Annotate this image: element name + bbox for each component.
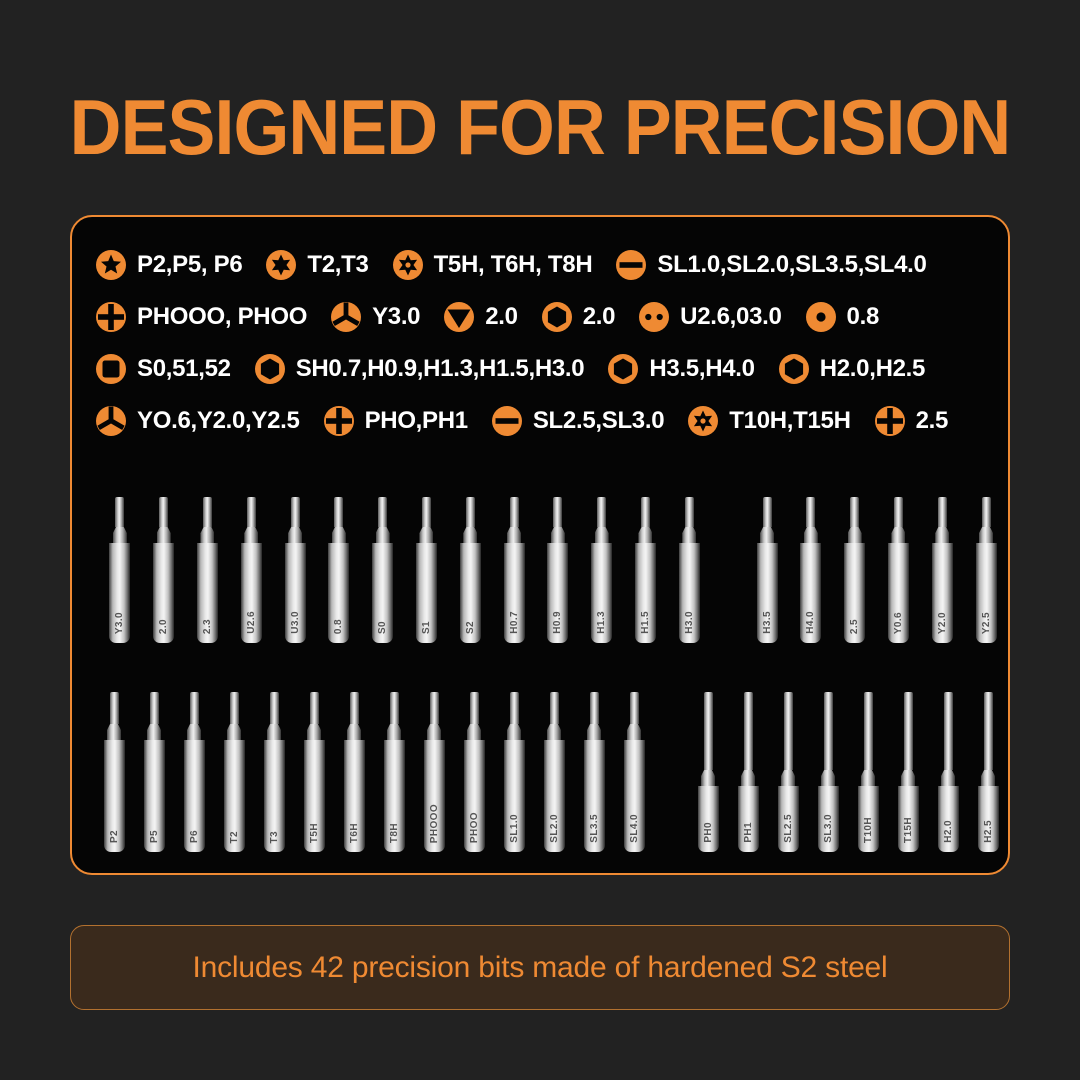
bit-item[interactable]: SL2.0 bbox=[534, 692, 574, 852]
bit-code-label: T5H bbox=[309, 823, 320, 843]
bit-tip bbox=[230, 692, 239, 724]
bit-neck bbox=[107, 724, 121, 740]
hex-outline-icon bbox=[777, 352, 811, 386]
bit-item[interactable]: H3.5 bbox=[745, 497, 789, 643]
bit-shaft: S0 bbox=[372, 543, 393, 643]
legend-item: SH0.7,H0.9,H1.3,H1.5,H3.0 bbox=[253, 352, 585, 386]
bit-shaft: P5 bbox=[144, 740, 165, 852]
bit-code-label: H2.5 bbox=[983, 820, 994, 843]
bit-code-label: H3.5 bbox=[762, 611, 773, 634]
legend-item: 2.0 bbox=[540, 300, 615, 334]
tri-wing-y-icon bbox=[94, 404, 128, 438]
bit-tip bbox=[763, 497, 772, 527]
bit-item[interactable]: U3.0 bbox=[273, 497, 317, 643]
tri-wing-y-icon bbox=[329, 300, 363, 334]
bit-neck bbox=[595, 527, 609, 543]
bit-neck bbox=[804, 527, 818, 543]
bit-tip bbox=[938, 497, 947, 527]
bit-code-label: S0 bbox=[377, 621, 388, 634]
torx-security-star-icon bbox=[686, 404, 720, 438]
bit-item[interactable]: SL2.5 bbox=[768, 692, 808, 852]
bit-item[interactable]: Y3.0 bbox=[98, 497, 142, 643]
bit-item[interactable]: P6 bbox=[174, 692, 214, 852]
bit-code-label: U2.6 bbox=[246, 611, 257, 634]
bit-shaft: SL3.0 bbox=[818, 786, 839, 852]
bit-neck bbox=[861, 770, 875, 786]
bit-neck bbox=[157, 527, 171, 543]
bit-neck bbox=[244, 527, 258, 543]
bit-neck bbox=[347, 724, 361, 740]
phillips-cross-icon bbox=[94, 300, 128, 334]
bit-code-label: T2 bbox=[229, 831, 240, 843]
legend-item: 2.0 bbox=[442, 300, 517, 334]
bit-shaft: H4.0 bbox=[800, 543, 821, 643]
legend-item-label: 2.5 bbox=[916, 407, 948, 435]
bit-neck bbox=[760, 527, 774, 543]
bit-code-label: P5 bbox=[149, 830, 160, 843]
legend-item-label: S0,51,52 bbox=[137, 355, 231, 383]
legend-item-label: 2.0 bbox=[583, 303, 615, 331]
bit-item[interactable]: U2.6 bbox=[229, 497, 273, 643]
square-socket-icon bbox=[94, 352, 128, 386]
bit-tip bbox=[850, 497, 859, 527]
bit-shaft: U3.0 bbox=[285, 543, 306, 643]
legend-item: U2.6,03.0 bbox=[637, 300, 781, 334]
bit-tray-top: Y3.02.02.3U2.6U3.00.8S0S1S2H0.7H0.9H1.3H… bbox=[72, 493, 1008, 643]
flathead-slot-icon bbox=[614, 248, 648, 282]
legend-item-label: U2.6,03.0 bbox=[680, 303, 781, 331]
bit-item[interactable]: H0.9 bbox=[536, 497, 580, 643]
bit-neck bbox=[113, 527, 127, 543]
bit-tip bbox=[510, 692, 519, 724]
bit-neck bbox=[147, 724, 161, 740]
bit-shaft: SL2.5 bbox=[778, 786, 799, 852]
legend-item: P2,P5, P6 bbox=[94, 248, 242, 282]
bit-tray-bottom: P2P5P6T2T3T5HT6HT8HPHOOOPHOOSL1.0SL2.0SL… bbox=[72, 687, 1008, 852]
bit-code-label: H2.0 bbox=[943, 820, 954, 843]
bit-tip bbox=[390, 692, 399, 724]
bit-shaft: Y2.5 bbox=[976, 543, 997, 643]
bit-item[interactable]: PHOOO bbox=[414, 692, 454, 852]
bit-neck bbox=[419, 527, 433, 543]
legend-item-label: H2.0,H2.5 bbox=[820, 355, 925, 383]
legend-item-label: T2,T3 bbox=[307, 251, 368, 279]
bit-code-label: PH1 bbox=[743, 822, 754, 843]
bit-shaft: T5H bbox=[304, 740, 325, 852]
bit-code-label: H3.0 bbox=[684, 611, 695, 634]
bit-neck bbox=[979, 527, 993, 543]
legend-item: S0,51,52 bbox=[94, 352, 231, 386]
bit-item[interactable]: SL3.0 bbox=[808, 692, 848, 852]
bit-shaft: Y2.0 bbox=[932, 543, 953, 643]
hex-outline-icon bbox=[253, 352, 287, 386]
bit-shaft: S1 bbox=[416, 543, 437, 643]
bit-shaft: T10H bbox=[858, 786, 879, 852]
bit-code-label: 2.0 bbox=[158, 619, 169, 634]
bit-shaft: T6H bbox=[344, 740, 365, 852]
bit-code-label: H0.9 bbox=[552, 611, 563, 634]
bit-item[interactable]: S2 bbox=[448, 497, 492, 643]
bit-neck bbox=[463, 527, 477, 543]
legend-item-label: 2.0 bbox=[485, 303, 517, 331]
bit-item[interactable]: 2.3 bbox=[186, 497, 230, 643]
legend-item: PHOOO, PHOO bbox=[94, 300, 307, 334]
bit-neck bbox=[891, 527, 905, 543]
bit-shaft: H0.9 bbox=[547, 543, 568, 643]
legend: P2,P5, P6T2,T3T5H, T6H, T8HSL1.0,SL2.0,S… bbox=[72, 217, 1008, 447]
bit-tip bbox=[864, 692, 873, 770]
hex-outline-icon bbox=[606, 352, 640, 386]
bit-code-label: 2.5 bbox=[849, 619, 860, 634]
bit-neck bbox=[507, 724, 521, 740]
legend-item: T5H, T6H, T8H bbox=[391, 248, 593, 282]
bit-item[interactable]: PH0 bbox=[688, 692, 728, 852]
bit-shaft: P2 bbox=[104, 740, 125, 852]
bit-code-label: SL3.0 bbox=[823, 814, 834, 843]
bit-tip bbox=[190, 692, 199, 724]
bit-item[interactable]: SL1.0 bbox=[494, 692, 534, 852]
bit-shaft: H3.0 bbox=[679, 543, 700, 643]
bit-code-label: S2 bbox=[465, 621, 476, 634]
bit-neck bbox=[587, 724, 601, 740]
bit-code-label: SL3.5 bbox=[589, 814, 600, 843]
bit-neck bbox=[200, 527, 214, 543]
two-dot-spanner-icon bbox=[637, 300, 671, 334]
bit-shaft: H2.5 bbox=[978, 786, 999, 852]
hex-outline-icon bbox=[540, 300, 574, 334]
bit-code-label: S1 bbox=[421, 621, 432, 634]
bit-neck bbox=[638, 527, 652, 543]
legend-item: T2,T3 bbox=[264, 248, 368, 282]
single-dot-icon bbox=[804, 300, 838, 334]
bit-neck bbox=[551, 527, 565, 543]
bit-item[interactable]: P2 bbox=[94, 692, 134, 852]
bit-item[interactable]: P5 bbox=[134, 692, 174, 852]
bit-tip bbox=[894, 497, 903, 527]
bit-neck bbox=[682, 527, 696, 543]
legend-item: H3.5,H4.0 bbox=[606, 352, 754, 386]
legend-item-label: 0.8 bbox=[847, 303, 879, 331]
bit-item[interactable]: S0 bbox=[361, 497, 405, 643]
bit-code-label: PH0 bbox=[703, 822, 714, 843]
bit-tip bbox=[334, 497, 343, 527]
bit-neck bbox=[227, 724, 241, 740]
bit-tip bbox=[203, 497, 212, 527]
bit-shaft: PHOOO bbox=[424, 740, 445, 852]
bit-tip bbox=[685, 497, 694, 527]
bit-item[interactable]: 0.8 bbox=[317, 497, 361, 643]
bit-shaft: PHOO bbox=[464, 740, 485, 852]
bit-shaft: PH0 bbox=[698, 786, 719, 852]
bit-shaft: 2.5 bbox=[844, 543, 865, 643]
bit-shaft: T2 bbox=[224, 740, 245, 852]
bit-tip bbox=[944, 692, 953, 770]
bit-code-label: T6H bbox=[349, 823, 360, 843]
bit-shaft: T15H bbox=[898, 786, 919, 852]
bit-tip bbox=[470, 692, 479, 724]
bit-neck bbox=[307, 724, 321, 740]
bit-tip bbox=[378, 497, 387, 527]
bit-neck bbox=[547, 724, 561, 740]
bit-tip bbox=[641, 497, 650, 527]
bit-neck bbox=[332, 527, 346, 543]
bit-code-label: T8H bbox=[389, 823, 400, 843]
legend-item-label: Y3.0 bbox=[372, 303, 420, 331]
bit-tip bbox=[597, 497, 606, 527]
bit-code-label: SL1.0 bbox=[509, 814, 520, 843]
bit-item[interactable]: T8H bbox=[374, 692, 414, 852]
bit-item[interactable]: T6H bbox=[334, 692, 374, 852]
bit-neck bbox=[701, 770, 715, 786]
legend-row: PHOOO, PHOOY3.02.02.0U2.6,03.00.8 bbox=[94, 291, 986, 343]
footer-banner: Includes 42 precision bits made of harde… bbox=[70, 925, 1010, 1010]
bit-shaft: SL4.0 bbox=[624, 740, 645, 852]
bit-shaft: H1.3 bbox=[591, 543, 612, 643]
bit-code-label: U3.0 bbox=[290, 611, 301, 634]
bit-item[interactable]: Y0.6 bbox=[877, 497, 921, 643]
bit-tip bbox=[704, 692, 713, 770]
bit-item[interactable]: SL4.0 bbox=[614, 692, 654, 852]
legend-row: P2,P5, P6T2,T3T5H, T6H, T8HSL1.0,SL2.0,S… bbox=[94, 239, 986, 291]
bit-code-label: T10H bbox=[863, 817, 874, 843]
bit-code-label: H1.5 bbox=[640, 611, 651, 634]
legend-item-label: H3.5,H4.0 bbox=[649, 355, 754, 383]
bit-neck bbox=[935, 527, 949, 543]
bit-code-label: H0.7 bbox=[509, 611, 520, 634]
bit-code-label: Y3.0 bbox=[114, 612, 125, 634]
bit-tip bbox=[247, 497, 256, 527]
bit-shaft: H1.5 bbox=[635, 543, 656, 643]
bit-code-label: 2.3 bbox=[202, 619, 213, 634]
legend-item-label: PHOOO, PHOO bbox=[137, 303, 307, 331]
torx-security-star-icon bbox=[391, 248, 425, 282]
bit-item[interactable]: PH1 bbox=[728, 692, 768, 852]
legend-item-label: P2,P5, P6 bbox=[137, 251, 242, 279]
bit-neck bbox=[387, 724, 401, 740]
bits-panel: P2,P5, P6T2,T3T5H, T6H, T8HSL1.0,SL2.0,S… bbox=[70, 215, 1010, 875]
bit-item[interactable]: 2.0 bbox=[142, 497, 186, 643]
bit-tip bbox=[422, 497, 431, 527]
legend-row: YO.6,Y2.0,Y2.5PHO,PH1SL2.5,SL3.0T10H,T15… bbox=[94, 395, 986, 447]
bit-neck bbox=[467, 724, 481, 740]
legend-item-label: SL1.0,SL2.0,SL3.5,SL4.0 bbox=[657, 251, 926, 279]
legend-item: 0.8 bbox=[804, 300, 879, 334]
bit-neck bbox=[288, 527, 302, 543]
bit-tip bbox=[150, 692, 159, 724]
bit-item[interactable]: T5H bbox=[294, 692, 334, 852]
bit-shaft: T3 bbox=[264, 740, 285, 852]
bit-neck bbox=[781, 770, 795, 786]
bit-tip bbox=[784, 692, 793, 770]
bit-shaft: SL3.5 bbox=[584, 740, 605, 852]
bit-tip bbox=[115, 497, 124, 527]
footer-text: Includes 42 precision bits made of harde… bbox=[192, 951, 887, 985]
bit-tip bbox=[590, 692, 599, 724]
bit-shaft: Y0.6 bbox=[888, 543, 909, 643]
bit-item[interactable]: H2.0 bbox=[928, 692, 968, 852]
bit-tip bbox=[824, 692, 833, 770]
bit-tip bbox=[310, 692, 319, 724]
bit-item[interactable]: SL3.5 bbox=[574, 692, 614, 852]
bit-tip bbox=[466, 497, 475, 527]
bit-item[interactable]: Y2.0 bbox=[920, 497, 964, 643]
bit-tip bbox=[744, 692, 753, 770]
bit-neck bbox=[901, 770, 915, 786]
bit-item[interactable]: H1.3 bbox=[580, 497, 624, 643]
legend-item: H2.0,H2.5 bbox=[777, 352, 925, 386]
bit-item[interactable]: T15H bbox=[888, 692, 928, 852]
bit-tip bbox=[350, 692, 359, 724]
bit-item[interactable]: H0.7 bbox=[492, 497, 536, 643]
bit-shaft: 2.0 bbox=[153, 543, 174, 643]
bit-neck bbox=[941, 770, 955, 786]
bit-tip bbox=[270, 692, 279, 724]
bit-shaft: SL2.0 bbox=[544, 740, 565, 852]
bit-tip bbox=[430, 692, 439, 724]
bit-shaft: Y3.0 bbox=[109, 543, 130, 643]
phillips-cross-icon bbox=[322, 404, 356, 438]
bit-code-label: P2 bbox=[109, 830, 120, 843]
bit-neck bbox=[627, 724, 641, 740]
bit-code-label: SL4.0 bbox=[629, 814, 640, 843]
bit-tip bbox=[904, 692, 913, 770]
bit-code-label: Y0.6 bbox=[893, 612, 904, 634]
bit-item[interactable]: T3 bbox=[254, 692, 294, 852]
legend-item: YO.6,Y2.0,Y2.5 bbox=[94, 404, 300, 438]
bit-code-label: T3 bbox=[269, 831, 280, 843]
bit-code-label: H4.0 bbox=[805, 611, 816, 634]
bit-item[interactable]: T2 bbox=[214, 692, 254, 852]
legend-item: Y3.0 bbox=[329, 300, 420, 334]
legend-item-label: PHO,PH1 bbox=[365, 407, 468, 435]
bit-shaft: S2 bbox=[460, 543, 481, 643]
bit-item[interactable]: H2.5 bbox=[968, 692, 1008, 852]
bit-code-label: PHOOO bbox=[429, 804, 440, 843]
bit-neck bbox=[187, 724, 201, 740]
torx-star-icon bbox=[264, 248, 298, 282]
bit-item[interactable]: T10H bbox=[848, 692, 888, 852]
bit-tip bbox=[806, 497, 815, 527]
legend-item-label: YO.6,Y2.0,Y2.5 bbox=[137, 407, 300, 435]
bit-neck bbox=[376, 527, 390, 543]
bit-code-label: SL2.5 bbox=[783, 814, 794, 843]
bit-code-label: Y2.0 bbox=[937, 612, 948, 634]
legend-item: PHO,PH1 bbox=[322, 404, 468, 438]
bit-shaft: H3.5 bbox=[757, 543, 778, 643]
bit-code-label: T15H bbox=[903, 817, 914, 843]
bit-code-label: SL2.0 bbox=[549, 814, 560, 843]
bit-item[interactable]: H4.0 bbox=[789, 497, 833, 643]
legend-item-label: T10H,T15H bbox=[729, 407, 850, 435]
bit-neck bbox=[848, 527, 862, 543]
phillips-cross-icon bbox=[873, 404, 907, 438]
bit-item[interactable]: H1.5 bbox=[624, 497, 668, 643]
bit-shaft: 2.3 bbox=[197, 543, 218, 643]
bit-code-label: PHOO bbox=[469, 812, 480, 843]
bit-shaft: H0.7 bbox=[504, 543, 525, 643]
flathead-slot-icon bbox=[490, 404, 524, 438]
page-title: DESIGNED FOR PRECISION bbox=[43, 0, 1037, 166]
bit-tip bbox=[630, 692, 639, 724]
bit-neck bbox=[507, 527, 521, 543]
legend-item: SL2.5,SL3.0 bbox=[490, 404, 664, 438]
bit-neck bbox=[427, 724, 441, 740]
bit-neck bbox=[267, 724, 281, 740]
bit-neck bbox=[741, 770, 755, 786]
bit-shaft: P6 bbox=[184, 740, 205, 852]
bit-item[interactable]: H3.0 bbox=[667, 497, 711, 643]
triangle-icon bbox=[442, 300, 476, 334]
bit-shaft: SL1.0 bbox=[504, 740, 525, 852]
bit-code-label: 0.8 bbox=[333, 619, 344, 634]
bit-tip bbox=[291, 497, 300, 527]
legend-item-label: SH0.7,H0.9,H1.3,H1.5,H3.0 bbox=[296, 355, 585, 383]
pentalobe-star-icon bbox=[94, 248, 128, 282]
bit-neck bbox=[821, 770, 835, 786]
bit-tip bbox=[110, 692, 119, 724]
bit-tip bbox=[553, 497, 562, 527]
bit-item[interactable]: S1 bbox=[405, 497, 449, 643]
bit-shaft: PH1 bbox=[738, 786, 759, 852]
bit-tip bbox=[550, 692, 559, 724]
bit-tip bbox=[510, 497, 519, 527]
legend-item-label: T5H, T6H, T8H bbox=[434, 251, 593, 279]
bit-shaft: T8H bbox=[384, 740, 405, 852]
bit-tip bbox=[984, 692, 993, 770]
bit-shaft: 0.8 bbox=[328, 543, 349, 643]
legend-item-label: SL2.5,SL3.0 bbox=[533, 407, 664, 435]
bit-item[interactable]: PHOO bbox=[454, 692, 494, 852]
bit-shaft: H2.0 bbox=[938, 786, 959, 852]
legend-item: SL1.0,SL2.0,SL3.5,SL4.0 bbox=[614, 248, 926, 282]
legend-item: 2.5 bbox=[873, 404, 948, 438]
bit-tip bbox=[982, 497, 991, 527]
bit-code-label: H1.3 bbox=[596, 611, 607, 634]
bit-shaft: U2.6 bbox=[241, 543, 262, 643]
bit-item[interactable]: 2.5 bbox=[833, 497, 877, 643]
bit-item[interactable]: Y2.5 bbox=[964, 497, 1008, 643]
legend-item: T10H,T15H bbox=[686, 404, 850, 438]
bit-code-label: P6 bbox=[189, 830, 200, 843]
bit-neck bbox=[981, 770, 995, 786]
bit-tip bbox=[159, 497, 168, 527]
bit-code-label: Y2.5 bbox=[981, 612, 992, 634]
legend-row: S0,51,52SH0.7,H0.9,H1.3,H1.5,H3.0H3.5,H4… bbox=[94, 343, 986, 395]
